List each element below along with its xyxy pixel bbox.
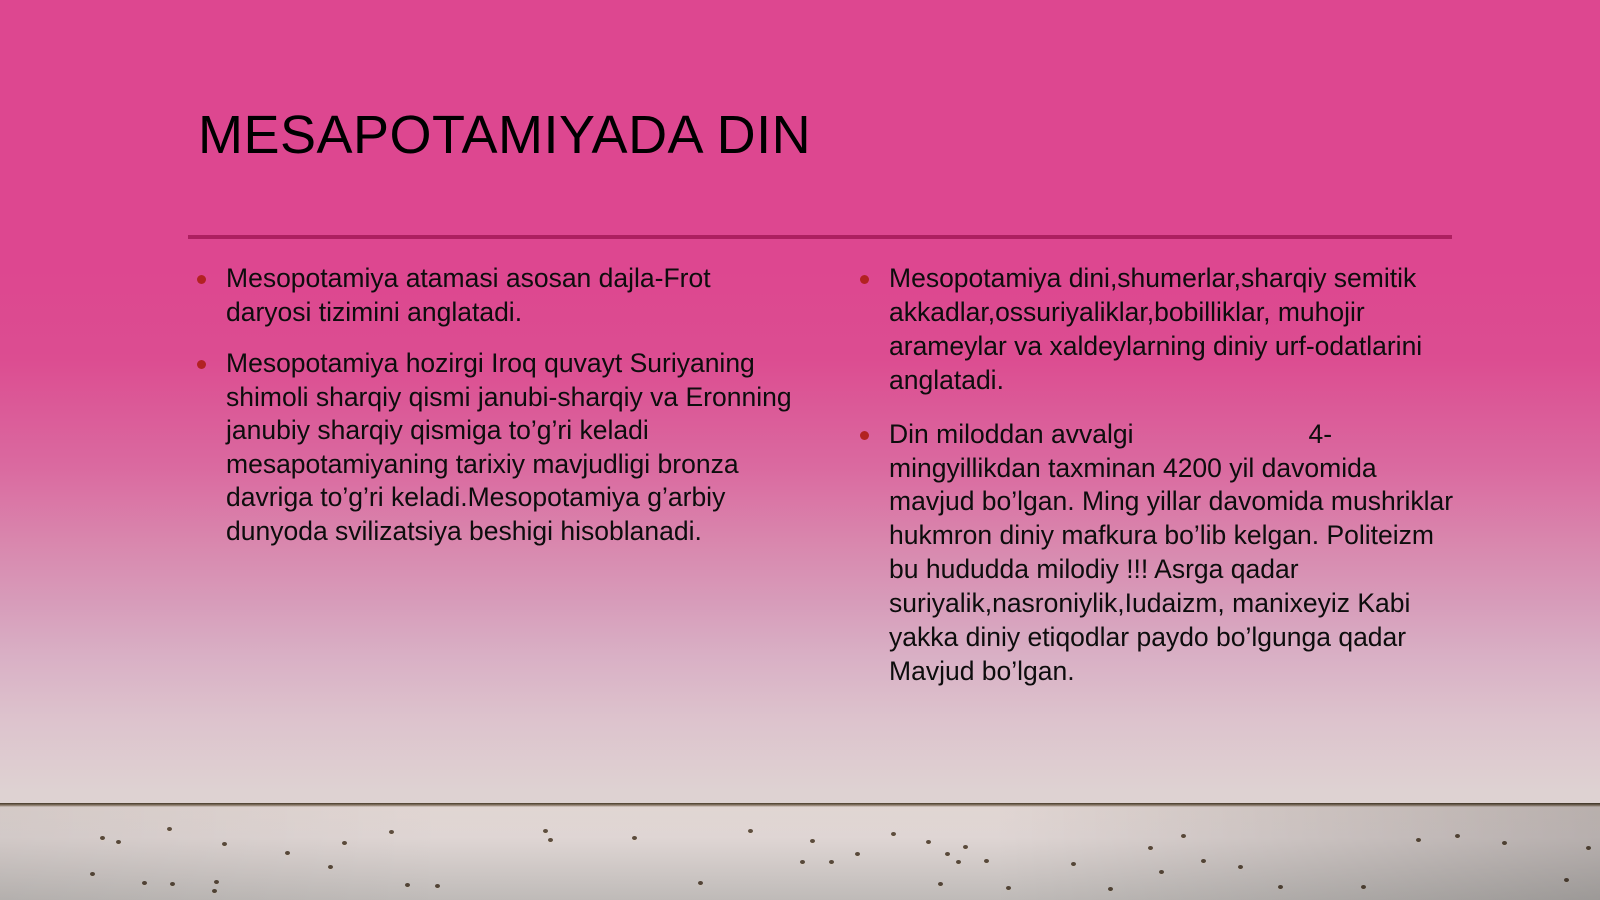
list-item-text-after-gap: 4-mingyillikdan taxminan 4200 yil davomi… bbox=[889, 419, 1453, 686]
floor-nail-dot bbox=[1455, 834, 1460, 838]
floor-nail-dot bbox=[142, 881, 147, 885]
floor-nail-dot bbox=[543, 829, 548, 833]
floor-nail-dot bbox=[829, 860, 834, 864]
floor-nail-dots bbox=[0, 803, 1600, 900]
floor-nail-dot bbox=[90, 872, 95, 876]
floor-nail-dot bbox=[1238, 865, 1243, 869]
left-bullet-list: Mesopotamiya atamasi asosan dajla-Frot d… bbox=[188, 262, 795, 548]
floor-nail-dot bbox=[222, 842, 227, 846]
floor-nail-dot bbox=[1148, 846, 1153, 850]
floor-nail-dot bbox=[100, 836, 105, 840]
floor-nail-dot bbox=[116, 840, 121, 844]
floor-nail-dot bbox=[405, 883, 410, 887]
floor-nail-dot bbox=[285, 851, 290, 855]
floor-nail-dot bbox=[1361, 885, 1366, 889]
slide-title: MESAPOTAMIYADA DIN bbox=[198, 104, 811, 166]
floor-nail-dot bbox=[1108, 887, 1113, 891]
title-divider-rule bbox=[188, 235, 1452, 239]
list-item: Mesopotamiya hozirgi Iroq quvayt Suriyan… bbox=[188, 347, 795, 548]
floor-nail-dot bbox=[956, 860, 961, 864]
content-columns: Mesopotamiya atamasi asosan dajla-Frot d… bbox=[188, 262, 1458, 709]
floor-nail-dot bbox=[1159, 870, 1164, 874]
floor-nail-dot bbox=[963, 845, 968, 849]
floor-nail-dot bbox=[855, 852, 860, 856]
right-bullet-list: Mesopotamiya dini,shumerlar,sharqiy semi… bbox=[851, 262, 1458, 689]
floor-nail-dot bbox=[435, 884, 440, 888]
floor-nail-dot bbox=[926, 840, 931, 844]
floor-nail-dot bbox=[1181, 834, 1186, 838]
floor-nail-dot bbox=[389, 830, 394, 834]
list-item: Din miloddan avvalgi4-mingyillikdan taxm… bbox=[851, 418, 1458, 689]
left-text-column: Mesopotamiya atamasi asosan dajla-Frot d… bbox=[188, 262, 795, 709]
floor-nail-dot bbox=[212, 889, 217, 893]
floor-nail-dot bbox=[214, 880, 219, 884]
floor-nail-dot bbox=[1502, 841, 1507, 845]
floor-nail-dot bbox=[945, 852, 950, 856]
floor-nail-dot bbox=[1071, 862, 1076, 866]
floor-nail-dot bbox=[1416, 838, 1421, 842]
floor-nail-dot bbox=[1201, 859, 1206, 863]
list-item-text-before-gap: Din miloddan avvalgi bbox=[889, 419, 1134, 449]
floor-nail-dot bbox=[342, 841, 347, 845]
floor-nail-dot bbox=[167, 827, 172, 831]
list-item: Mesopotamiya atamasi asosan dajla-Frot d… bbox=[188, 262, 795, 329]
floor-nail-dot bbox=[748, 829, 753, 833]
floor-nail-dot bbox=[632, 836, 637, 840]
floor-nail-dot bbox=[328, 865, 333, 869]
floor-nail-dot bbox=[548, 838, 553, 842]
floor-nail-dot bbox=[1278, 885, 1283, 889]
list-item: Mesopotamiya dini,shumerlar,sharqiy semi… bbox=[851, 262, 1458, 398]
floor-nail-dot bbox=[1586, 846, 1591, 850]
floor-nail-dot bbox=[938, 882, 943, 886]
floor-nail-dot bbox=[984, 859, 989, 863]
floor-nail-dot bbox=[810, 839, 815, 843]
floor-nail-dot bbox=[891, 832, 896, 836]
wooden-floor-decoration bbox=[0, 803, 1600, 900]
presentation-slide: MESAPOTAMIYADA DIN Mesopotamiya atamasi … bbox=[0, 0, 1600, 900]
floor-nail-dot bbox=[1564, 878, 1569, 882]
floor-nail-dot bbox=[170, 882, 175, 886]
floor-nail-dot bbox=[1006, 886, 1011, 890]
floor-nail-dot bbox=[698, 881, 703, 885]
floor-nail-dot bbox=[800, 860, 805, 864]
right-text-column: Mesopotamiya dini,shumerlar,sharqiy semi… bbox=[851, 262, 1458, 709]
